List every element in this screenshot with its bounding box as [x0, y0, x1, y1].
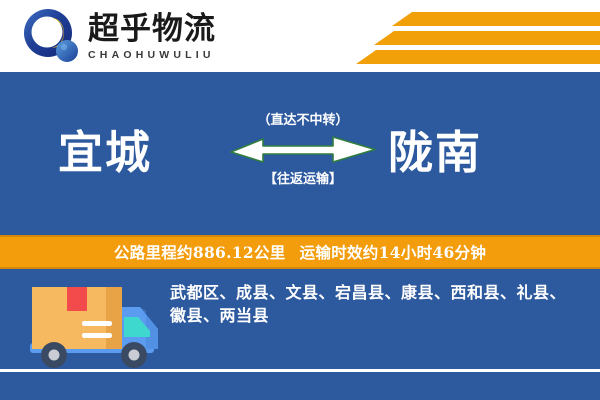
bottom-divider: [0, 369, 600, 372]
route-note-direct: （直达不中转）: [228, 114, 378, 128]
distance-label: 公路里程约886.12公里: [114, 243, 286, 262]
brand-text-block: 超乎物流 CHAOHUWULIU: [88, 13, 216, 61]
route-section: 宜城 （直达不中转） 【往返运输】 陇南: [0, 72, 600, 235]
speed-stripe-1: [392, 12, 600, 26]
speed-stripe-2: [374, 31, 600, 45]
coverage-areas-label: 武都区、成县、文县、宕昌县、康县、西和县、礼县、徽县、两当县: [170, 281, 582, 327]
bidirectional-arrow-icon: [229, 135, 377, 167]
chaohu-circle-logo-icon: [22, 8, 82, 66]
delivery-truck-icon: [18, 277, 168, 377]
brand-pinyin: CHAOHUWULIU: [88, 49, 216, 61]
coverage-section: 武都区、成县、文县、宕昌县、康县、西和县、礼县、徽县、两当县: [0, 269, 600, 400]
speed-stripe-3: [356, 50, 600, 64]
brand-block: 超乎物流 CHAOHUWULIU: [22, 6, 216, 68]
route-middle-block: （直达不中转） 【往返运输】: [228, 114, 378, 188]
destination-city-label: 陇南: [388, 130, 482, 175]
brand-name: 超乎物流: [88, 13, 216, 46]
route-note-roundtrip: 【往返运输】: [228, 173, 378, 187]
route-info-bar: 公路里程约886.12公里运输时效约14小时46分钟: [0, 235, 600, 269]
banner-header: 超乎物流 CHAOHUWULIU: [0, 0, 600, 72]
route-info-bar-text: 公路里程约886.12公里运输时效约14小时46分钟: [114, 241, 486, 263]
duration-label: 运输时效约14小时46分钟: [300, 243, 487, 262]
origin-city-label: 宜城: [58, 130, 152, 175]
logistics-route-banner: 超乎物流 CHAOHUWULIU 宜城 （直达不中转） 【往返运输】 陇南 公路…: [0, 0, 600, 400]
